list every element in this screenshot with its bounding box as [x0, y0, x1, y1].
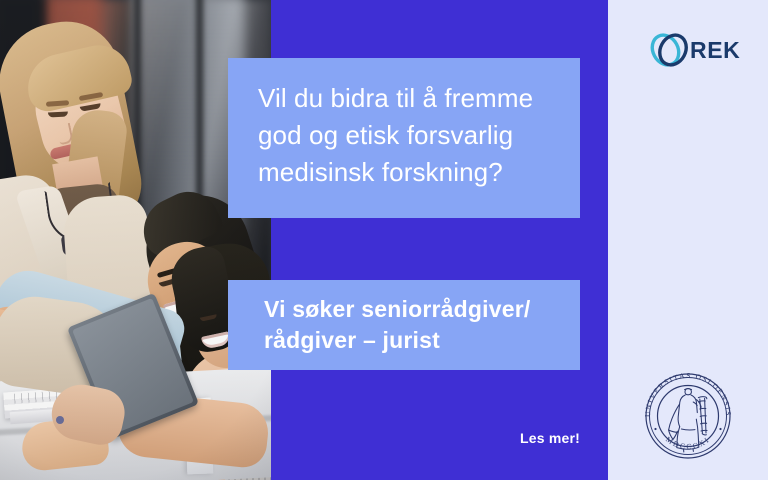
- job-title-line-1: Vi søker seniorrådgiver/: [264, 294, 554, 325]
- interlocking-rings-icon: [648, 28, 692, 72]
- read-more-link[interactable]: Les mer!: [438, 430, 580, 446]
- rek-wordmark: REK: [690, 37, 740, 64]
- headline-textbox: Vil du bidra til å fremme god og etisk f…: [228, 58, 580, 218]
- svg-text:UNIVERSITAS OSLOENSIS: UNIVERSITAS OSLOENSIS: [643, 371, 733, 417]
- rek-logo[interactable]: REK: [648, 28, 740, 72]
- job-title-textbox: Vi søker seniorrådgiver/ rådgiver – juri…: [228, 280, 580, 370]
- headline-line-3: medisinsk forskning?: [258, 154, 554, 191]
- recruitment-banner: Vil du bidra til å fremme god og etisk f…: [0, 0, 768, 480]
- headline-line-2: god og etisk forsvarlig: [258, 117, 554, 154]
- job-title-line-2: rådgiver – jurist: [264, 325, 554, 356]
- uio-seal: UNIVERSITAS OSLOENSIS MDCCCXI: [638, 366, 738, 466]
- headline-line-1: Vil du bidra til å fremme: [258, 80, 554, 117]
